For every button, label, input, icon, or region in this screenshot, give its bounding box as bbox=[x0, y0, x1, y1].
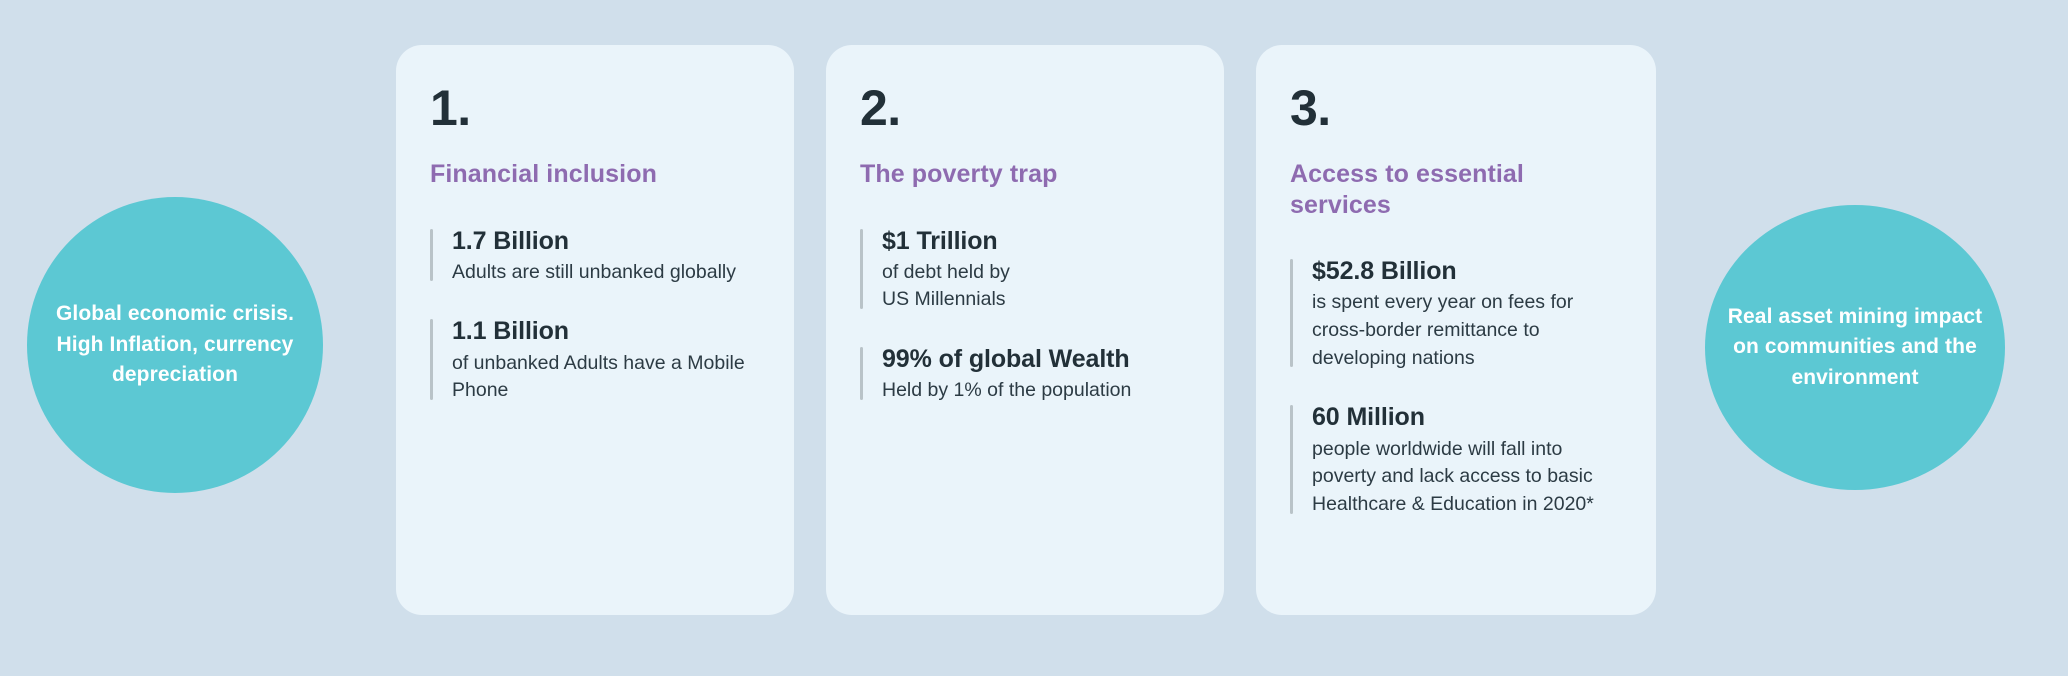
right-context-circle: Real asset mining impact on communities … bbox=[1705, 205, 2005, 490]
right-circle-text: Real asset mining impact on communities … bbox=[1705, 302, 2005, 393]
stat-description: of unbanked Adults have a Mobile Phone bbox=[452, 350, 760, 405]
stat-item: 99% of global Wealth Held by 1% of the p… bbox=[860, 344, 1190, 405]
card-number: 1. bbox=[430, 83, 760, 133]
stat-description: people worldwide will fall into poverty … bbox=[1312, 436, 1622, 519]
stat-value: $52.8 Billion bbox=[1312, 256, 1622, 287]
card-stats: $52.8 Billion is spent every year on fee… bbox=[1290, 256, 1622, 519]
stat-value: 60 Million bbox=[1312, 402, 1622, 433]
card-title: Access to essential services bbox=[1290, 159, 1622, 220]
stat-value: 99% of global Wealth bbox=[882, 344, 1190, 375]
card-stats: 1.7 Billion Adults are still unbanked gl… bbox=[430, 226, 760, 406]
card-poverty-trap: 2. The poverty trap $1 Trillion of debt … bbox=[826, 45, 1224, 615]
card-title: The poverty trap bbox=[860, 159, 1190, 190]
stat-value: 1.1 Billion bbox=[452, 316, 760, 347]
stat-description: is spent every year on fees for cross-bo… bbox=[1312, 289, 1622, 372]
card-access-essential-services: 3. Access to essential services $52.8 Bi… bbox=[1256, 45, 1656, 615]
stat-item: $1 Trillion of debt held by US Millennia… bbox=[860, 226, 1190, 315]
card-number: 2. bbox=[860, 83, 1190, 133]
stat-description: of debt held by US Millennials bbox=[882, 259, 1190, 314]
stat-item: $52.8 Billion is spent every year on fee… bbox=[1290, 256, 1622, 372]
stat-value: $1 Trillion bbox=[882, 226, 1190, 257]
stat-item: 1.7 Billion Adults are still unbanked gl… bbox=[430, 226, 760, 287]
card-number: 3. bbox=[1290, 83, 1622, 133]
card-financial-inclusion: 1. Financial inclusion 1.7 Billion Adult… bbox=[396, 45, 794, 615]
left-context-circle: Global economic crisis. High Inflation, … bbox=[27, 197, 323, 493]
cards-row: 1. Financial inclusion 1.7 Billion Adult… bbox=[396, 45, 1656, 615]
card-stats: $1 Trillion of debt held by US Millennia… bbox=[860, 226, 1190, 406]
stat-description: Adults are still unbanked globally bbox=[452, 259, 760, 287]
card-title: Financial inclusion bbox=[430, 159, 760, 190]
stat-value: 1.7 Billion bbox=[452, 226, 760, 257]
stat-item: 60 Million people worldwide will fall in… bbox=[1290, 402, 1622, 518]
stat-item: 1.1 Billion of unbanked Adults have a Mo… bbox=[430, 316, 760, 405]
stat-description: Held by 1% of the population bbox=[882, 377, 1190, 405]
left-circle-text: Global economic crisis. High Inflation, … bbox=[27, 299, 323, 390]
